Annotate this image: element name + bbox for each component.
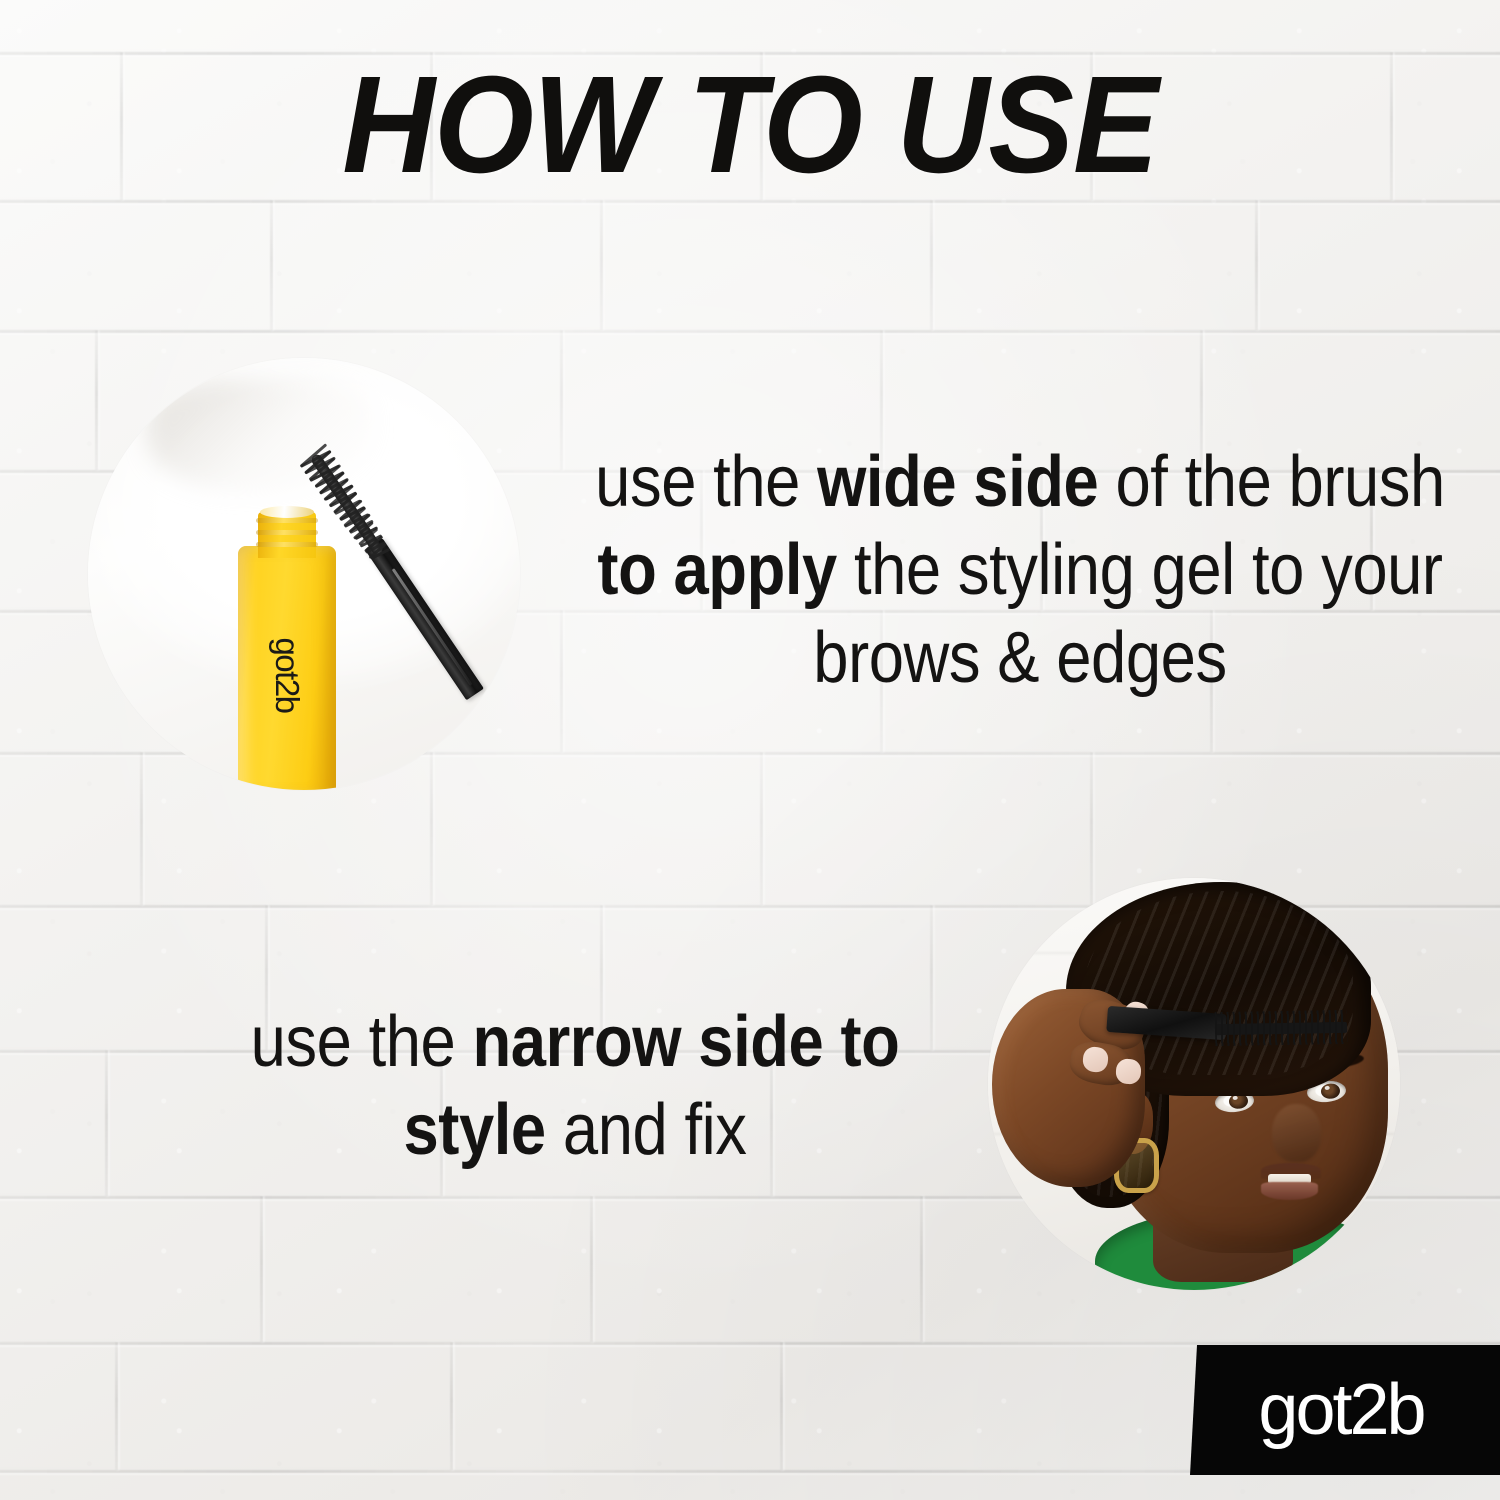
mortar-line-vertical <box>760 752 763 905</box>
mortar-line-vertical <box>930 200 933 330</box>
model-nose <box>1272 1104 1321 1161</box>
mortar-line-horizontal <box>0 330 1500 333</box>
tube-brand-label: got2b <box>268 637 306 712</box>
instruction-text-wide-side: use the wide side of the brush to apply … <box>589 438 1451 702</box>
tube-thread <box>256 518 318 523</box>
mortar-line-vertical <box>260 1196 263 1342</box>
mortar-line-horizontal <box>0 1342 1500 1345</box>
mortar-line-vertical <box>560 610 563 752</box>
page-title: HOW TO USE <box>53 56 1448 194</box>
emphasis-text: to apply <box>597 530 836 610</box>
tube-thread <box>256 542 318 547</box>
product-photo-circle: got2b <box>88 358 520 790</box>
body-text: of the brush <box>1098 442 1445 522</box>
model-brush-bristles <box>1215 1022 1347 1035</box>
mortar-line-vertical <box>270 200 273 330</box>
mortar-line-vertical <box>930 905 933 1050</box>
model-iris-right <box>1320 1082 1340 1099</box>
emphasis-text: wide side <box>817 442 1098 522</box>
product-tube: got2b <box>238 506 336 790</box>
body-text: use the <box>251 1002 473 1082</box>
mortar-line-vertical <box>920 1196 923 1342</box>
model-fingernail <box>1082 1046 1109 1073</box>
mortar-line-vertical <box>560 330 563 470</box>
instruction-text-narrow-side: use the narrow side to style and fix <box>227 998 922 1174</box>
mortar-line-vertical <box>115 1342 118 1470</box>
brand-logo: got2b <box>1190 1345 1500 1475</box>
mortar-line-vertical <box>105 1050 108 1196</box>
mortar-line-vertical <box>450 1342 453 1470</box>
mortar-line-vertical <box>1255 200 1258 330</box>
body-text: use the <box>595 442 817 522</box>
mortar-line-vertical <box>780 1342 783 1470</box>
mortar-line-vertical <box>590 1196 593 1342</box>
model-fingernail <box>1115 1058 1141 1084</box>
infographic-canvas: HOW TO USE got2b use the wide side of th… <box>0 0 1500 1500</box>
brand-logo-text: got2b <box>1258 1369 1423 1451</box>
model-lower-lip <box>1261 1182 1319 1200</box>
tube-thread <box>256 530 318 535</box>
mortar-line-vertical <box>600 200 603 330</box>
body-text: and fix <box>546 1090 747 1170</box>
model-photo-circle <box>988 878 1400 1290</box>
tube-opening <box>260 506 314 518</box>
body-text: the styling gel to your brows & edges <box>813 530 1442 698</box>
